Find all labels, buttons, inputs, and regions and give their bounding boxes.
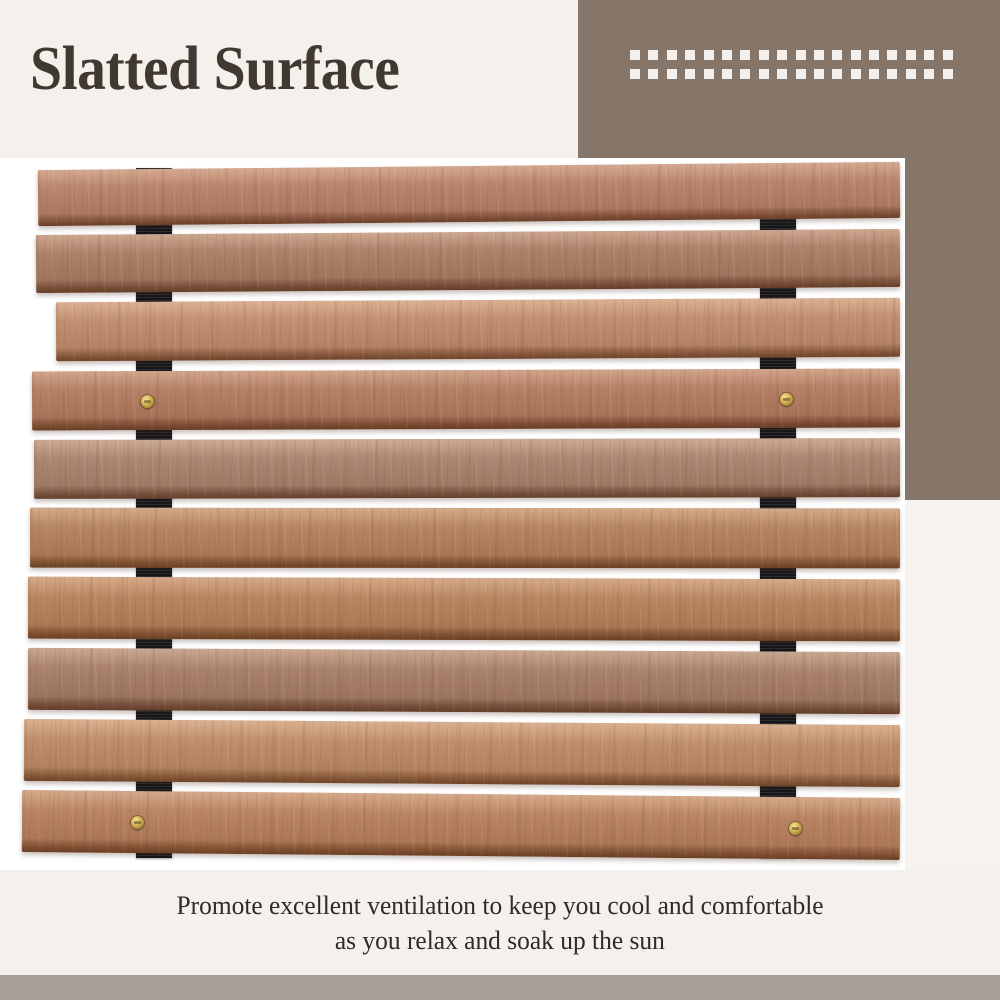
slat-face [36, 229, 900, 293]
dot-square-icon [851, 69, 861, 79]
dot-square-icon [759, 69, 769, 79]
slat-face [30, 508, 900, 569]
dot-square-icon [648, 50, 658, 60]
slat-face [22, 790, 901, 860]
dot-square-icon [722, 69, 732, 79]
caption-line-1: Promote excellent ventilation to keep yo… [176, 888, 823, 923]
page-title: Slatted Surface [30, 38, 399, 100]
wood-slat [56, 298, 900, 361]
dot-square-icon [814, 69, 824, 79]
dot-square-icon [924, 69, 934, 79]
dot-square-icon [943, 50, 953, 60]
dot-square-icon [667, 69, 677, 79]
dot-square-icon [685, 50, 695, 60]
dot-square-icon [704, 50, 714, 60]
dot-square-icon [832, 69, 842, 79]
wood-slat [36, 229, 900, 293]
caption-block: Promote excellent ventilation to keep yo… [0, 870, 1000, 975]
dot-square-icon [704, 69, 714, 79]
dotted-pattern-decoration [630, 50, 940, 88]
caption-line-2: as you relax and soak up the sun [335, 923, 665, 958]
dot-square-icon [869, 50, 879, 60]
slat-face [38, 162, 900, 226]
product-feature-card: Slatted Surface Promote excellent ventil… [0, 0, 1000, 1000]
wood-slat [30, 508, 900, 569]
slat-face [34, 438, 900, 499]
dot-square-icon [906, 50, 916, 60]
slat-face [24, 719, 900, 787]
right-accent-column [905, 158, 1000, 500]
dot-square-icon [667, 50, 677, 60]
dot-square-icon [648, 69, 658, 79]
dot-square-icon [887, 69, 897, 79]
wood-slat [28, 577, 900, 642]
header-banner: Slatted Surface [0, 0, 1000, 158]
dot-square-icon [685, 69, 695, 79]
slat-face [28, 648, 900, 714]
brass-screw-icon [780, 393, 793, 406]
dot-square-icon [796, 50, 806, 60]
dot-square-icon [759, 50, 769, 60]
slat-face [28, 577, 900, 642]
dot-square-icon [832, 50, 842, 60]
dot-square-icon [740, 50, 750, 60]
wood-grain-texture [30, 508, 900, 569]
slat-face [56, 298, 900, 361]
wood-slat [28, 648, 900, 714]
dot-square-icon [887, 50, 897, 60]
wood-slat [34, 438, 900, 499]
dot-square-icon [777, 69, 787, 79]
slatted-surface-illustration [0, 158, 905, 870]
dot-square-icon [777, 50, 787, 60]
dot-square-icon [796, 69, 806, 79]
dot-square-icon [906, 69, 916, 79]
wood-grain-texture [28, 648, 900, 714]
dot-square-icon [722, 50, 732, 60]
dot-row [630, 69, 940, 79]
wood-grain-texture [28, 577, 900, 642]
dot-square-icon [924, 50, 934, 60]
dot-square-icon [869, 69, 879, 79]
product-photo [0, 158, 905, 870]
bottom-accent-bar [0, 975, 1000, 1000]
brass-screw-icon [789, 822, 802, 835]
wood-slat [22, 790, 901, 860]
wood-grain-texture [36, 229, 900, 293]
dot-square-icon [814, 50, 824, 60]
wood-grain-texture [38, 162, 900, 226]
dot-square-icon [851, 50, 861, 60]
brass-screw-icon [141, 395, 154, 408]
slat-face [32, 368, 900, 430]
wood-grain-texture [22, 790, 901, 860]
wood-grain-texture [34, 438, 900, 499]
dot-square-icon [630, 69, 640, 79]
dot-square-icon [943, 69, 953, 79]
wood-grain-texture [32, 368, 900, 430]
brass-screw-icon [131, 816, 144, 829]
wood-grain-texture [24, 719, 900, 787]
wood-slat [24, 719, 900, 787]
wood-slat [38, 162, 900, 226]
wood-slat [32, 368, 900, 430]
dot-row [630, 50, 940, 60]
dot-square-icon [740, 69, 750, 79]
dot-square-icon [630, 50, 640, 60]
wood-grain-texture [56, 298, 900, 361]
